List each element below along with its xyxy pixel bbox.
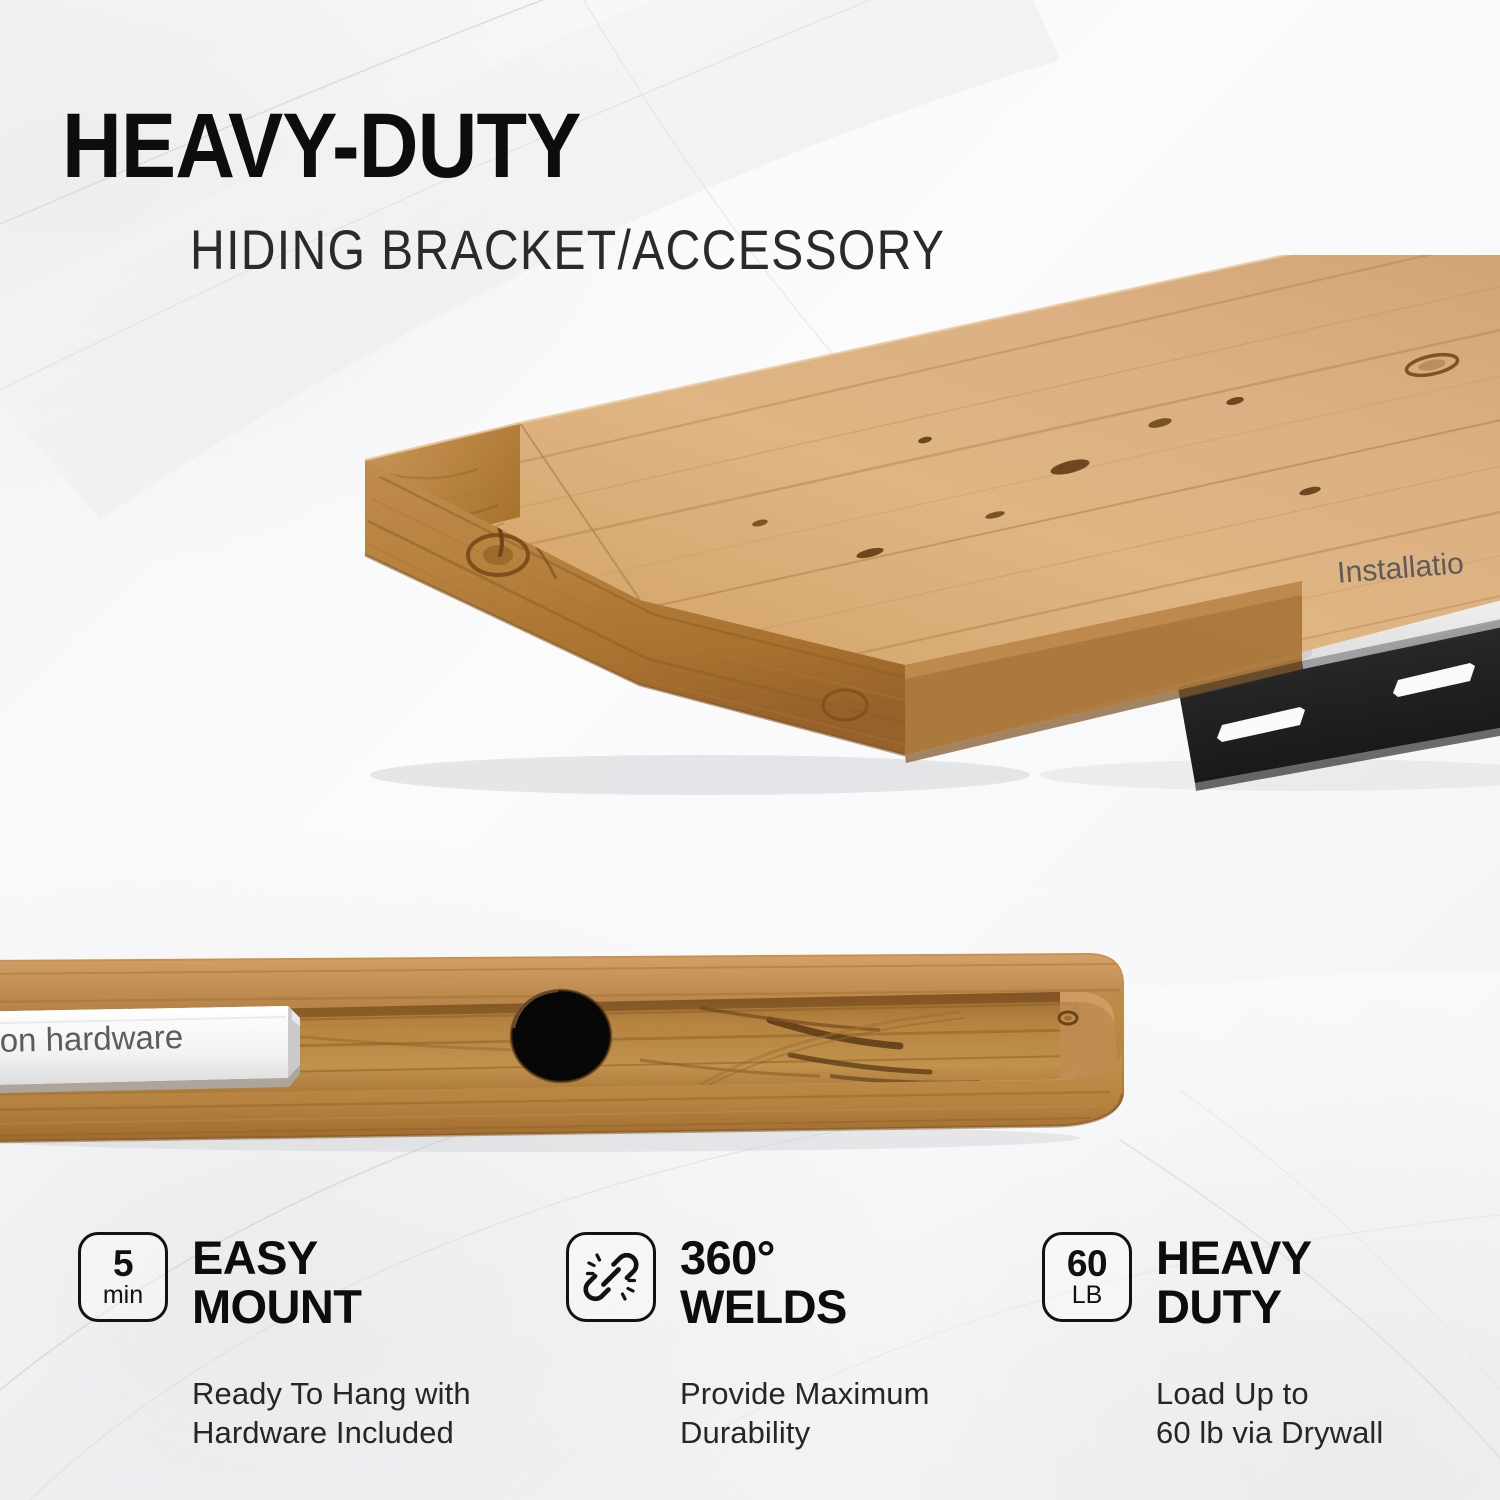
feature-title-line2: DUTY [1156, 1283, 1311, 1332]
feature-heading: 360° WELDS [566, 1232, 1036, 1332]
feature-description: Load Up to 60 lb via Drywall [1156, 1374, 1492, 1452]
feature-desc-line1: Load Up to [1156, 1374, 1492, 1413]
feature-description: Provide Maximum Durability [680, 1374, 1036, 1452]
chain-link-weld-glyph [582, 1248, 640, 1306]
feature-360-welds: 360° WELDS Provide Maximum Durability [566, 1232, 1036, 1452]
page-title: HEAVY-DUTY [62, 100, 581, 192]
feature-title-line2: MOUNT [192, 1283, 361, 1332]
badge-unit: LB [1072, 1282, 1103, 1308]
clock-5min-icon: 5 min [78, 1232, 168, 1322]
badge-number: 60 [1067, 1246, 1107, 1281]
feature-heading: 5 min EASY MOUNT [78, 1232, 548, 1332]
feature-title: 360° WELDS [680, 1232, 847, 1332]
product-photo-shelf-with-bracket [0, 255, 1500, 855]
feature-easy-mount: 5 min EASY MOUNT Ready To Hang with Hard… [78, 1232, 548, 1452]
installation-hardware-box-bottom [0, 1006, 300, 1094]
weight-60lb-icon: 60 LB [1042, 1232, 1132, 1322]
feature-description: Ready To Hang with Hardware Included [192, 1374, 548, 1452]
chain-link-weld-icon [566, 1232, 656, 1322]
product-photo-shelf-back-channel [0, 900, 1500, 1190]
feature-title-line1: 360° [680, 1234, 847, 1283]
feature-heavy-duty: 60 LB HEAVY DUTY Load Up to 60 lb via Dr… [1042, 1232, 1492, 1452]
badge-number: 5 [113, 1246, 133, 1281]
feature-title-line2: WELDS [680, 1283, 847, 1332]
feature-title: EASY MOUNT [192, 1232, 361, 1332]
feature-desc-line2: Durability [680, 1413, 1036, 1452]
badge-unit: min [103, 1282, 143, 1308]
feature-title-line1: EASY [192, 1234, 361, 1283]
feature-desc-line2: 60 lb via Drywall [1156, 1413, 1492, 1452]
feature-list: 5 min EASY MOUNT Ready To Hang with Hard… [0, 1232, 1500, 1462]
feature-desc-line1: Ready To Hang with [192, 1374, 548, 1413]
feature-title-line1: HEAVY [1156, 1234, 1311, 1283]
feature-desc-line1: Provide Maximum [680, 1374, 1036, 1413]
feature-title: HEAVY DUTY [1156, 1232, 1311, 1332]
feature-desc-line2: Hardware Included [192, 1413, 548, 1452]
feature-heading: 60 LB HEAVY DUTY [1042, 1232, 1492, 1332]
